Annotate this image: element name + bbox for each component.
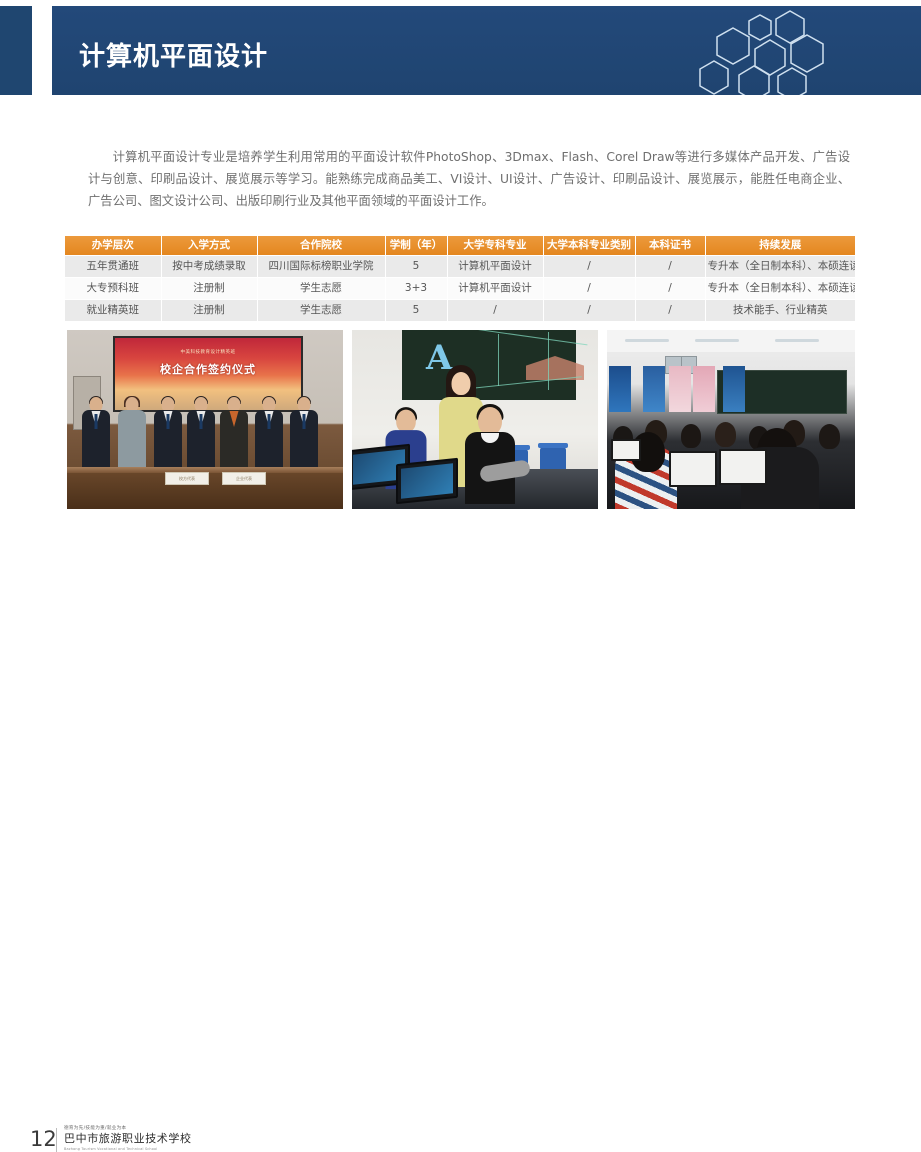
school-motto: 德育为先/技能为重/就业为本 [64, 1125, 224, 1132]
header-accent-strip [0, 6, 32, 95]
table-col-header: 办学层次 [65, 236, 161, 256]
blackboard: A [402, 330, 576, 400]
table-cell: 3+3 [385, 278, 447, 300]
laptop [396, 461, 458, 505]
table-row: 大专预科班 注册制 学生志愿 3+3 计算机平面设计 / / 专升本（全日制本科… [65, 278, 855, 300]
laptop-screen [719, 449, 767, 485]
screen-subtitle: 中美科技教育设计精英班 [115, 349, 301, 355]
table-cell: 计算机平面设计 [447, 256, 543, 278]
person-figure [186, 397, 216, 475]
photo-gallery: 中美科技教育设计精英班 校企合作签约仪式 校方代表 企业代表 [67, 330, 856, 509]
table-cell: 专升本（全日制本科）、本硕连读、出国留学 [705, 256, 855, 278]
signing-ceremony-photo: 中美科技教育设计精英班 校企合作签约仪式 校方代表 企业代表 [67, 330, 343, 509]
header-band: 计算机平面设计 [52, 6, 921, 95]
table-row: 就业精英班 注册制 学生志愿 5 / / / 技术能手、行业精英 [65, 300, 855, 322]
wall-poster [693, 366, 715, 412]
table-cell: 五年贯通班 [65, 256, 161, 278]
table-cell: / [543, 300, 635, 322]
table-cell: / [447, 300, 543, 322]
table-cell: 大专预科班 [65, 278, 161, 300]
table-cell: 注册制 [161, 278, 257, 300]
ceiling-light [695, 339, 739, 342]
table-cell: / [635, 256, 705, 278]
table-row: 五年贯通班 按中考成绩录取 四川国际标榜职业学院 5 计算机平面设计 / / 专… [65, 256, 855, 278]
person-figure [81, 397, 111, 475]
table-cell: 注册制 [161, 300, 257, 322]
wall-poster [609, 366, 631, 412]
table-cell: / [635, 278, 705, 300]
ceiling-light [625, 339, 669, 342]
table-col-header: 本科证书 [635, 236, 705, 256]
program-details-table: 办学层次 入学方式 合作院校 学制（年） 大学专科专业 大学本科专业类别 本科证… [65, 236, 855, 322]
ceiling-light [775, 339, 819, 342]
table-cell: 按中考成绩录取 [161, 256, 257, 278]
person-figure [219, 397, 249, 475]
page-number: 12 [30, 1129, 57, 1150]
school-logo: 德育为先/技能为重/就业为本 巴中市旅游职业技术学校 Bazhong Touri… [64, 1125, 224, 1152]
school-name: 巴中市旅游职业技术学校 [64, 1132, 224, 1146]
student-head [715, 422, 736, 447]
slide-header: 计算机平面设计 [0, 0, 921, 97]
table-col-header: 入学方式 [161, 236, 257, 256]
person-figure [153, 397, 183, 475]
wall-poster [723, 366, 745, 412]
student-head [681, 424, 701, 448]
table-cell: 四川国际标榜职业学院 [257, 256, 385, 278]
table-cell: / [635, 300, 705, 322]
wall-poster [669, 366, 691, 412]
screen-title: 校企合作签约仪式 [115, 361, 301, 377]
footer-divider [56, 1128, 57, 1152]
hexagon-cluster-icon [687, 8, 867, 95]
table-col-header: 大学本科专业类别 [543, 236, 635, 256]
table-col-header: 合作院校 [257, 236, 385, 256]
table-cell: 计算机平面设计 [447, 278, 543, 300]
student-head [819, 424, 840, 449]
table-cell: 专升本（全日制本科）、本硕连读、出国留学 [705, 278, 855, 300]
wall-poster [643, 366, 665, 412]
table-col-header: 大学专科专业 [447, 236, 543, 256]
table-cell: / [543, 278, 635, 300]
table-cell: 学生志愿 [257, 278, 385, 300]
person-figure [289, 397, 319, 475]
school-name-english: Bazhong Tourism Vocational and Technical… [64, 1146, 224, 1152]
name-plate: 企业代表 [222, 472, 266, 485]
table-col-header: 持续发展 [705, 236, 855, 256]
student-figure [464, 407, 516, 503]
page-title: 计算机平面设计 [79, 44, 268, 70]
table-cell: 学生志愿 [257, 300, 385, 322]
classroom-teacher-students-photo: A [352, 330, 598, 509]
table-cell: 5 [385, 300, 447, 322]
table-header-row: 办学层次 入学方式 合作院校 学制（年） 大学专科专业 大学本科专业类别 本科证… [65, 236, 855, 256]
table-cell: / [543, 256, 635, 278]
name-plate: 校方代表 [165, 472, 209, 485]
person-figure [254, 397, 284, 475]
laptop-screen [669, 451, 717, 487]
person-figure [117, 397, 147, 475]
slide-footer: 12 德育为先/技能为重/就业为本 巴中市旅游职业技术学校 Bazhong To… [0, 558, 921, 611]
computer-lab-classroom-photo [607, 330, 855, 509]
table-cell: 技术能手、行业精英 [705, 300, 855, 322]
table-cell: 就业精英班 [65, 300, 161, 322]
program-description: 计算机平面设计专业是培养学生利用常用的平面设计软件PhotoShop、3Dmax… [88, 146, 850, 212]
laptop-screen [611, 439, 641, 461]
table-col-header: 学制（年） [385, 236, 447, 256]
table-cell: 5 [385, 256, 447, 278]
